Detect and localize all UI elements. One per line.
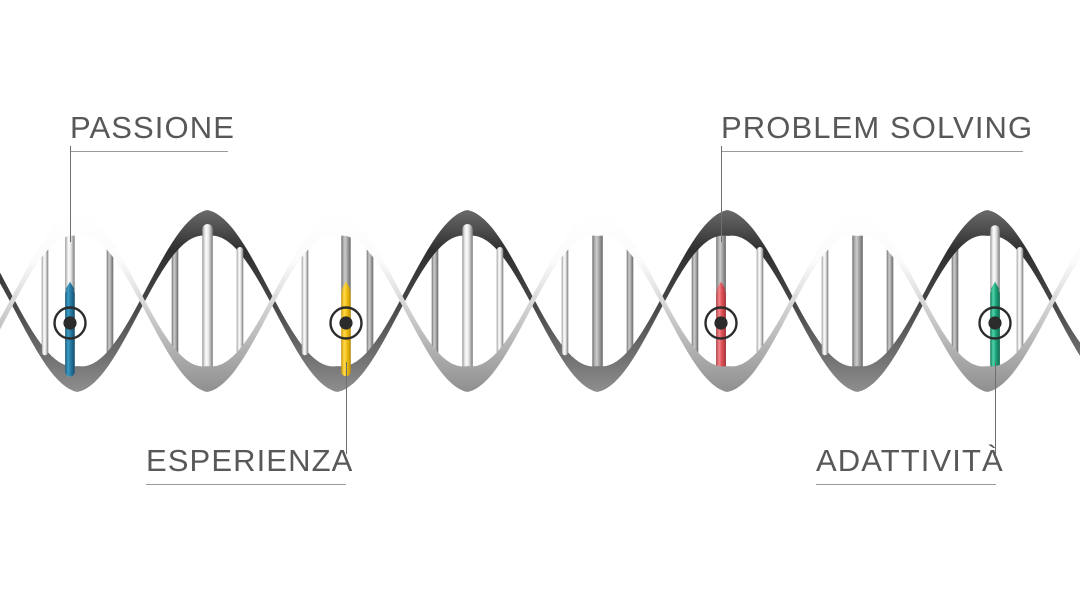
base-pair-rung — [822, 247, 829, 356]
base-pair-rung — [462, 224, 473, 378]
dna-double-helix-graphic — [0, 0, 1080, 600]
callout-label-passione: PASSIONE — [70, 112, 235, 143]
red-marker — [716, 289, 726, 377]
base-pair-rung — [852, 224, 863, 378]
base-pair-rung — [202, 224, 213, 378]
base-pair-rung — [497, 247, 504, 355]
callout-label-problem-solving: PROBLEM SOLVING — [721, 112, 1033, 143]
callout-label-esperienza: ESPERIENZA — [146, 445, 353, 476]
base-pair-rung — [367, 247, 374, 355]
callout-label-adattivita: ADATTIVITÀ — [816, 445, 1004, 476]
marker-dot-esperienza[interactable] — [339, 316, 352, 329]
base-pair-rung — [432, 247, 439, 356]
marker-dot-passione[interactable] — [63, 316, 76, 329]
marker-rings — [55, 308, 1011, 339]
callout-esperienza[interactable]: ESPERIENZA — [146, 445, 353, 485]
base-pair-rung — [592, 224, 603, 378]
marker-dot-problem-solving[interactable] — [714, 316, 727, 329]
base-pair-rung — [692, 247, 699, 356]
base-pair-rung — [302, 247, 309, 356]
leader-line-passione — [70, 146, 71, 242]
base-pair-rung — [757, 247, 764, 355]
backbone-strand-dark — [0, 210, 1080, 392]
callout-rule-adattivita — [816, 484, 996, 485]
leader-line-adattivita — [995, 362, 996, 454]
base-pair-rung — [237, 247, 244, 355]
callout-rule-passione — [70, 151, 228, 152]
base-pair-rungs-front — [0, 224, 1080, 378]
infographic-canvas: PASSIONE ESPERIENZA PROBLEM SOLVING ADAT… — [0, 0, 1080, 600]
base-pair-rung — [562, 247, 569, 356]
leader-line-problem-solving — [721, 146, 722, 242]
base-pair-rung — [887, 247, 894, 355]
base-pair-rung — [627, 247, 634, 355]
base-pair-rung — [952, 247, 959, 356]
base-pair-rung — [172, 247, 179, 356]
callout-passione[interactable]: PASSIONE — [70, 112, 235, 152]
callout-adattivita[interactable]: ADATTIVITÀ — [816, 445, 1004, 485]
base-pair-rung — [107, 247, 114, 355]
base-pair-rung — [1017, 247, 1024, 355]
callout-problem-solving[interactable]: PROBLEM SOLVING — [721, 112, 1033, 152]
backbone-strand-light — [0, 210, 1080, 392]
callout-rule-problem-solving — [721, 151, 1023, 152]
callout-rule-esperienza — [146, 484, 346, 485]
base-pair-rung — [42, 247, 49, 356]
blue-marker — [65, 289, 75, 377]
leader-line-esperienza — [346, 362, 347, 454]
marker-dot-adattivita[interactable] — [988, 316, 1001, 329]
